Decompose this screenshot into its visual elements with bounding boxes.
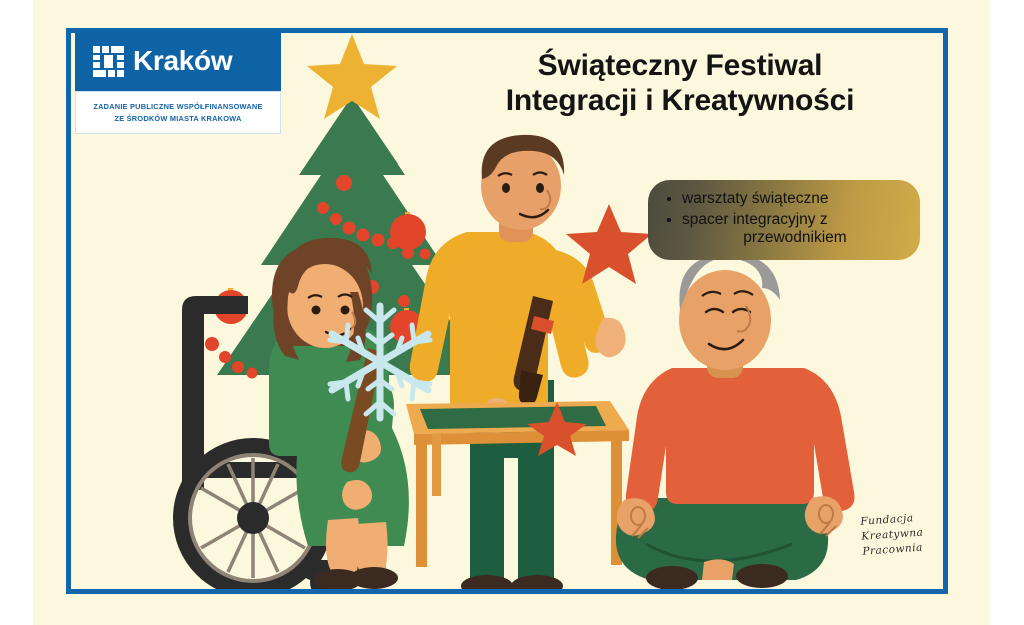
krakow-square-mark-icon <box>93 46 124 77</box>
krakow-logo-block: Kraków ZADANIE PUBLICZNE WSPÓŁFINANSOWAN… <box>75 31 281 134</box>
poster-canvas: Kraków ZADANIE PUBLICZNE WSPÓŁFINANSOWAN… <box>0 0 1024 625</box>
title-line-2: Integracji i Kreatywności <box>420 83 940 118</box>
list-item: warsztaty świąteczne <box>682 190 908 208</box>
list-item-line-1: spacer integracyjny z <box>682 211 828 228</box>
program-list: warsztaty świąteczne spacer integracyjny… <box>664 190 908 247</box>
foundation-signature: Fundacja Kreatywna Pracownia <box>860 509 944 576</box>
krakow-wordmark: Kraków <box>133 47 232 75</box>
krakow-logo-bar: Kraków <box>75 31 281 91</box>
list-item-line-2: przewodnikiem <box>682 229 908 247</box>
funding-line-2: ZE ŚRODKÓW MIASTA KRAKOWA <box>114 113 241 124</box>
title-line-1: Świąteczny Festiwal <box>420 48 940 83</box>
program-highlights-box: warsztaty świąteczne spacer integracyjny… <box>648 180 920 260</box>
funding-statement: ZADANIE PUBLICZNE WSPÓŁFINANSOWANE ZE ŚR… <box>75 91 281 134</box>
poster-title: Świąteczny Festiwal Integracji i Kreatyw… <box>420 48 940 119</box>
funding-line-1: ZADANIE PUBLICZNE WSPÓŁFINANSOWANE <box>93 101 262 112</box>
list-item: spacer integracyjny zprzewodnikiem <box>682 211 908 247</box>
